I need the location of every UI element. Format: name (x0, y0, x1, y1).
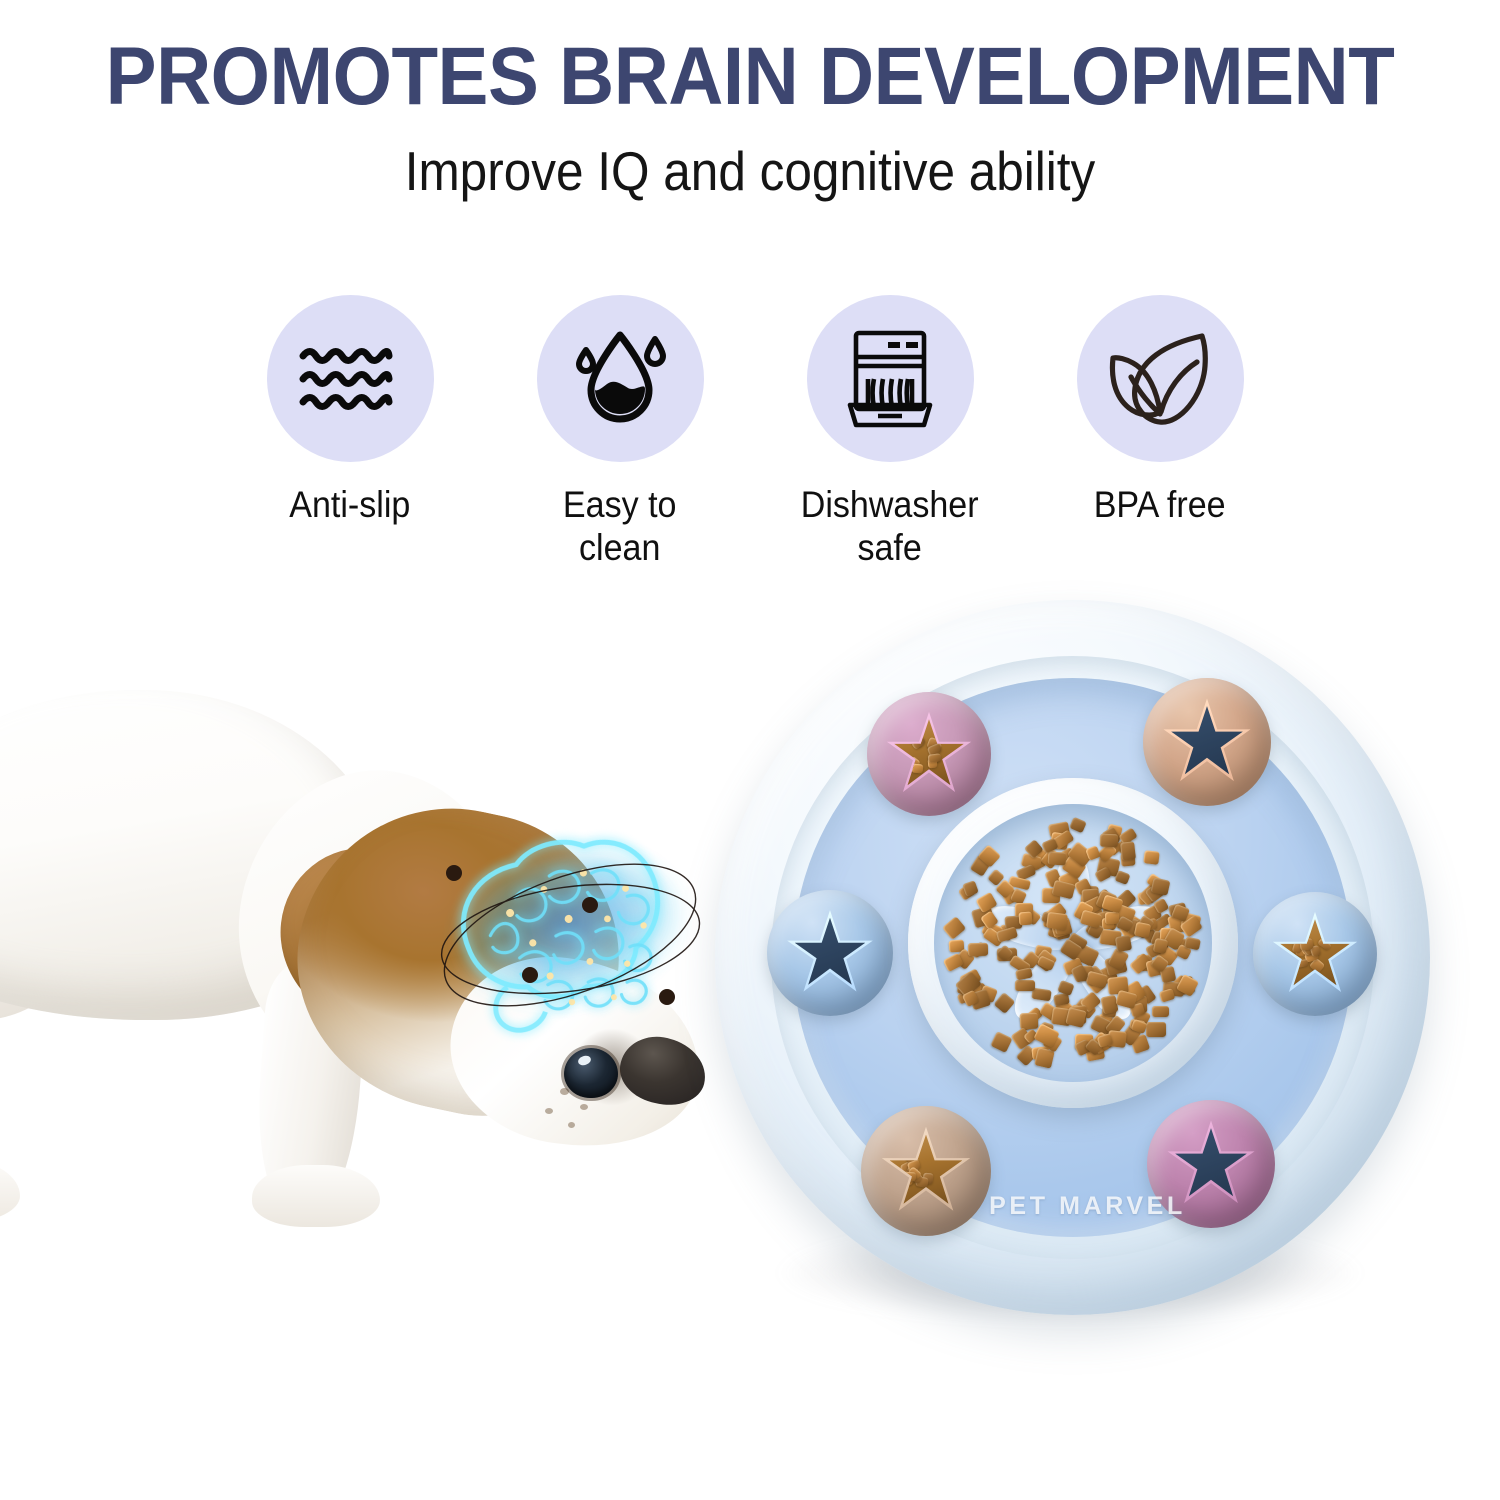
kibble-piece (1069, 817, 1087, 834)
puppy-muzzle-spot (560, 1088, 569, 1095)
puzzle-knob-top-right[interactable] (1143, 678, 1271, 806)
feature-item-anti-slip[interactable]: Anti-slip (225, 295, 475, 526)
feature-item-bpa-free[interactable]: BPA free (1035, 295, 1285, 526)
kibble-piece (1115, 935, 1132, 953)
kibble-piece (1046, 912, 1067, 930)
kibble-piece (942, 916, 966, 940)
feature-badges: Anti-slip Easy to clean (225, 295, 1285, 575)
feature-label: Anti-slip (289, 483, 410, 526)
puppy-muzzle-spot (568, 1122, 575, 1128)
kibble-piece (1047, 852, 1066, 866)
brand-text: PET MARVEL (730, 1192, 1445, 1221)
kibble-piece (1159, 988, 1175, 1002)
kibble-piece (993, 992, 1015, 1014)
puzzle-knob-top-left[interactable] (867, 692, 991, 816)
kibble-piece (1143, 851, 1160, 866)
feature-label: BPA free (1094, 483, 1226, 526)
kibble-piece (1105, 911, 1119, 923)
kibble-piece (1146, 1022, 1166, 1037)
page-subtitle: Improve IQ and cognitive ability (75, 140, 1425, 202)
bowl-outer-rim: PET MARVEL (715, 600, 1430, 1315)
kibble-piece (1114, 870, 1130, 885)
puppy-front-paw (252, 1165, 380, 1227)
kibble-piece (968, 943, 988, 956)
feature-icon-circle (1077, 295, 1244, 462)
feature-item-easy-to-clean[interactable]: Easy to clean (495, 295, 745, 569)
kibble-piece (928, 753, 942, 762)
puppy-eye (564, 1048, 618, 1098)
feature-label: Easy to clean (563, 483, 677, 569)
kibble-piece (1019, 912, 1033, 926)
header-section: PROMOTES BRAIN DEVELOPMENT Improve IQ an… (0, 0, 1500, 230)
puppy-muzzle-spot (545, 1108, 553, 1114)
feature-label: Dishwasher safe (801, 483, 979, 569)
puzzle-knob-right[interactable] (1253, 892, 1377, 1016)
wavy-lines-icon (298, 342, 402, 416)
feature-icon-circle (537, 295, 704, 462)
puppy-muzzle-spot (580, 1104, 588, 1110)
puppy-back-paw (0, 1160, 20, 1222)
dishwasher-icon (838, 327, 942, 431)
puzzle-knob-left[interactable] (767, 890, 893, 1016)
leaves-icon (1105, 330, 1215, 428)
kibble-piece (1014, 980, 1034, 991)
kibble-piece (990, 1031, 1012, 1053)
feature-icon-circle (807, 295, 974, 462)
kibble-piece (1152, 1005, 1169, 1016)
page-title: PROMOTES BRAIN DEVELOPMENT (53, 34, 1448, 120)
center-bowl-well (934, 804, 1212, 1082)
feature-item-dishwasher-safe[interactable]: Dishwasher safe (765, 295, 1015, 569)
puppy-photo (0, 660, 740, 1340)
product-image: PET MARVEL (700, 585, 1440, 1385)
kibble-piece (1099, 834, 1118, 848)
center-food-bowl[interactable] (908, 778, 1238, 1108)
feature-icon-circle (267, 295, 434, 462)
kibble-piece (1120, 842, 1136, 861)
water-droplet-icon (571, 327, 669, 431)
